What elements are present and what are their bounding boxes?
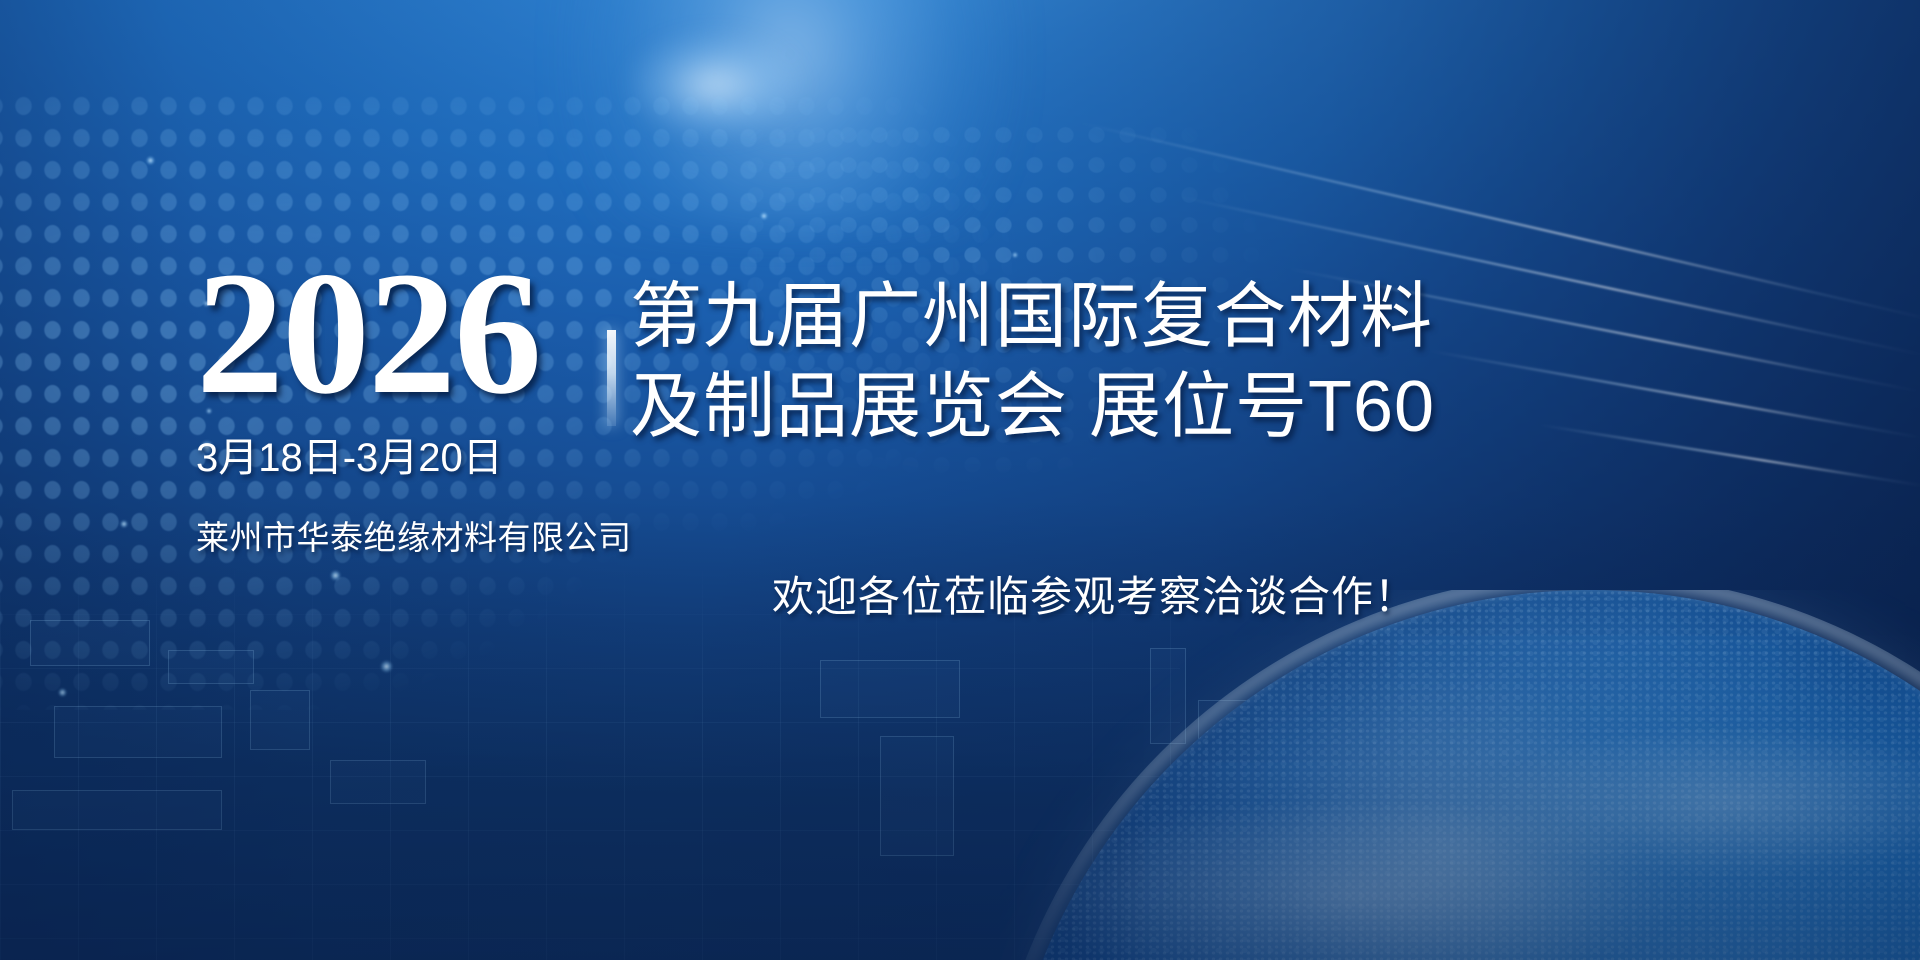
event-title-line-2: 及制品展览会 展位号T60	[630, 362, 1900, 452]
year-heading: 2026	[196, 258, 616, 409]
welcome-message: 欢迎各位莅临参观考察洽谈合作！	[772, 563, 1417, 624]
exhibition-banner: 2026 3月18日-3月20日 莱州市华泰绝缘材料有限公司 第九届广州国际复合…	[0, 0, 1920, 960]
event-title-line-1: 第九届广州国际复合材料	[630, 272, 1900, 362]
vertical-divider-bar	[607, 330, 616, 426]
company-name: 莱州市华泰绝缘材料有限公司	[196, 511, 616, 559]
title-block: 第九届广州国际复合材料 及制品展览会 展位号T60	[630, 272, 1900, 452]
event-dates: 3月18日-3月20日	[196, 425, 616, 483]
left-info-block: 2026 3月18日-3月20日 莱州市华泰绝缘材料有限公司	[196, 258, 616, 559]
banner-content: 2026 3月18日-3月20日 莱州市华泰绝缘材料有限公司 第九届广州国际复合…	[0, 0, 1920, 960]
